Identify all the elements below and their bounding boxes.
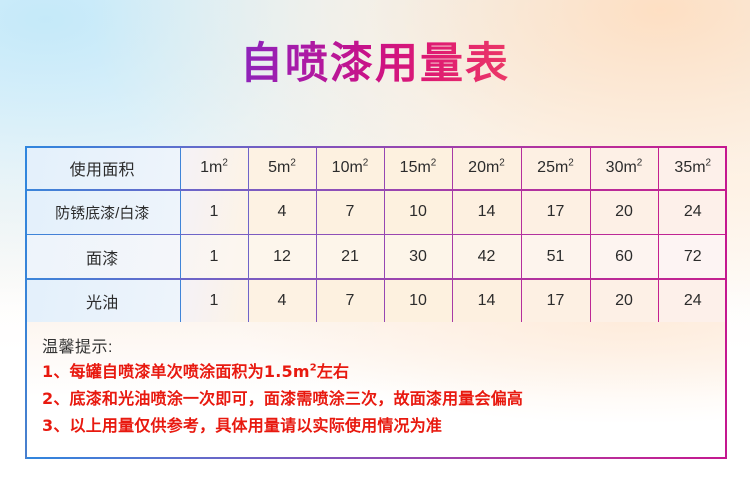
cell-primer-1: 1 xyxy=(180,191,248,234)
cell-primer-5: 14 xyxy=(452,191,521,234)
cell-topcoat-3: 21 xyxy=(316,235,384,278)
cell-clearcoat-5: 14 xyxy=(452,280,521,323)
usage-table-container: 使用面积 1m2 5m2 10m2 15m2 20m2 25m2 30m2 35… xyxy=(25,146,727,323)
cell-clearcoat-3: 7 xyxy=(316,280,384,323)
cell-clearcoat-6: 17 xyxy=(521,280,590,323)
usage-table-body: 使用面积 1m2 5m2 10m2 15m2 20m2 25m2 30m2 35… xyxy=(25,146,727,323)
header-area-5: 20m2 xyxy=(452,146,521,189)
cell-topcoat-8: 72 xyxy=(658,235,727,278)
usage-table: 使用面积 1m2 5m2 10m2 15m2 20m2 25m2 30m2 35… xyxy=(25,146,727,323)
header-area-4: 15m2 xyxy=(384,146,452,189)
header-label-cell: 使用面积 xyxy=(25,146,180,189)
cell-primer-8: 24 xyxy=(658,191,727,234)
title-container: 自喷漆用量表 xyxy=(0,40,750,89)
row-label-primer: 防锈底漆/白漆 xyxy=(25,191,180,234)
table-row: 光油 1 4 7 10 14 17 20 24 xyxy=(25,280,727,323)
cell-primer-7: 20 xyxy=(590,191,658,234)
cell-topcoat-6: 51 xyxy=(521,235,590,278)
row-label-topcoat: 面漆 xyxy=(25,235,180,278)
cell-clearcoat-1: 1 xyxy=(180,280,248,323)
cell-primer-6: 17 xyxy=(521,191,590,234)
cell-topcoat-2: 12 xyxy=(248,235,316,278)
header-area-6: 25m2 xyxy=(521,146,590,189)
table-row: 防锈底漆/白漆 1 4 7 10 14 17 20 24 xyxy=(25,191,727,234)
table-header-row: 使用面积 1m2 5m2 10m2 15m2 20m2 25m2 30m2 35… xyxy=(25,146,727,189)
header-area-8: 35m2 xyxy=(658,146,727,189)
table-row: 面漆 1 12 21 30 42 51 60 72 xyxy=(25,235,727,278)
cell-clearcoat-8: 24 xyxy=(658,280,727,323)
note-item-2: 2、底漆和光油喷涂一次即可，面漆需喷涂三次，故面漆用量会偏高 xyxy=(42,391,727,407)
page-title: 自喷漆用量表 xyxy=(240,40,510,89)
cell-topcoat-1: 1 xyxy=(180,235,248,278)
cell-topcoat-7: 60 xyxy=(590,235,658,278)
cell-topcoat-5: 42 xyxy=(452,235,521,278)
header-area-2: 5m2 xyxy=(248,146,316,189)
header-area-1: 1m2 xyxy=(180,146,248,189)
header-area-7: 30m2 xyxy=(590,146,658,189)
cell-clearcoat-4: 10 xyxy=(384,280,452,323)
cell-clearcoat-2: 4 xyxy=(248,280,316,323)
cell-clearcoat-7: 20 xyxy=(590,280,658,323)
notes-title: 温馨提示: xyxy=(42,333,727,357)
cell-primer-4: 10 xyxy=(384,191,452,234)
row-label-clearcoat: 光油 xyxy=(25,280,180,323)
note-item-3: 3、以上用量仅供参考，具体用量请以实际使用情况为准 xyxy=(42,418,727,434)
cell-primer-2: 4 xyxy=(248,191,316,234)
note-item-1: 1、每罐自喷漆单次喷涂面积为1.5m2左右 xyxy=(42,364,727,380)
notes-panel: 温馨提示: 1、每罐自喷漆单次喷涂面积为1.5m2左右 2、底漆和光油喷涂一次即… xyxy=(25,322,727,459)
header-area-3: 10m2 xyxy=(316,146,384,189)
cell-topcoat-4: 30 xyxy=(384,235,452,278)
cell-primer-3: 7 xyxy=(316,191,384,234)
